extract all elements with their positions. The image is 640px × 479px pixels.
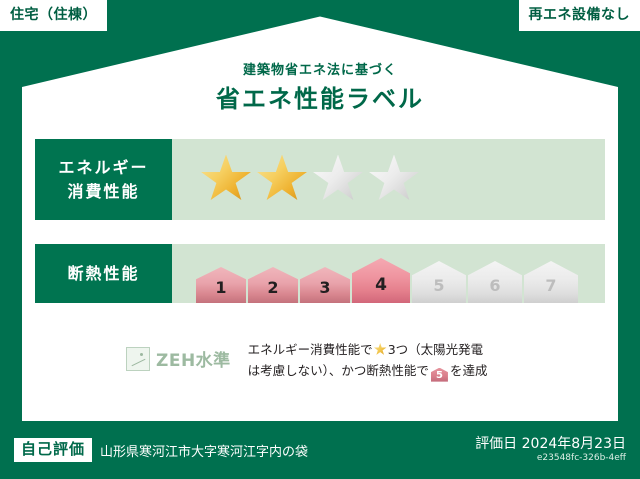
insulation-badge-1: 1 [196, 267, 246, 303]
insulation-label-line1: 断熱性能 [67, 262, 139, 285]
footer-left-group: 自己評価 山形県寒河江市大字寒河江字内の袋 [14, 438, 308, 462]
energy-performance-row: エネルギー 消費性能 [35, 139, 605, 220]
zeh-description: エネルギー消費性能で3つ（太陽光発電 は考慮しない）、かつ断熱性能で5を達成 [248, 340, 488, 382]
star-icon-2 [256, 155, 308, 205]
label-footer: 自己評価 山形県寒河江市大字寒河江字内の袋 評価日 2024年8月23日 e23… [0, 421, 640, 479]
zeh-desc-line1-a: エネルギー消費性能で [248, 342, 373, 357]
energy-label-line2: 消費性能 [67, 180, 139, 203]
star-icon-3 [312, 155, 364, 205]
zeh-desc-line2-b: を達成 [450, 363, 488, 378]
energy-performance-label: 住宅（住棟） 再エネ設備なし 建築物省エネ法に基づく 省エネ性能ラベル エネルギ… [0, 0, 640, 479]
building-type-tag: 住宅（住棟） [0, 0, 107, 31]
zeh-label: ZEH水準 [156, 346, 231, 371]
insulation-badge-inline: 5 [431, 368, 448, 382]
insulation-grade-scale: 1 2 3 4 5 6 7 [172, 244, 605, 303]
star-icon-4 [368, 155, 420, 205]
zeh-standard-note: ZEH水準 エネルギー消費性能で3つ（太陽光発電 は考慮しない）、かつ断熱性能で… [126, 340, 487, 382]
renewable-equipment-tag: 再エネ設備なし [519, 0, 640, 31]
evaluation-type-badge: 自己評価 [14, 438, 92, 462]
label-subtitle: 建築物省エネ法に基づく [0, 59, 640, 78]
insulation-badge-6: 6 [468, 261, 522, 303]
footer-right-group: 評価日 2024年8月23日 e23548fc-326b-4eff [475, 436, 626, 464]
zeh-mark: ZEH水準 [126, 346, 231, 371]
zeh-chart-icon [126, 347, 150, 371]
energy-star-rating [172, 139, 605, 220]
page-title: 省エネ性能ラベル [0, 79, 640, 114]
zeh-desc-line2-a: は考慮しない）、かつ断熱性能で [248, 363, 429, 378]
label-identifier: e23548fc-326b-4eff [475, 453, 626, 465]
evaluation-date: 評価日 2024年8月23日 [475, 436, 626, 453]
energy-performance-label-cell: エネルギー 消費性能 [35, 139, 172, 220]
insulation-badge-5: 5 [412, 261, 466, 303]
insulation-badge-3: 3 [300, 267, 350, 303]
insulation-badge-2: 2 [248, 267, 298, 303]
star-icon-inline [374, 343, 387, 356]
insulation-performance-row: 断熱性能 1 2 3 4 5 6 7 [35, 244, 605, 303]
star-icon-1 [200, 155, 252, 205]
property-address: 山形県寒河江市大字寒河江字内の袋 [100, 441, 308, 460]
insulation-performance-label-cell: 断熱性能 [35, 244, 172, 303]
insulation-badge-7: 7 [524, 261, 578, 303]
insulation-badge-4: 4 [352, 258, 410, 303]
energy-label-line1: エネルギー [58, 156, 148, 179]
zeh-desc-line1-b: 3つ（太陽光発電 [388, 342, 483, 357]
